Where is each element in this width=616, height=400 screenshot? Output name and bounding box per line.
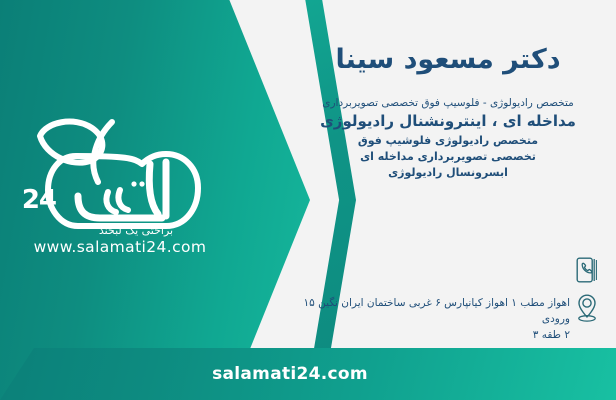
phone-row[interactable] [298, 252, 604, 288]
specialty-line-4: تخصصی تصویربرداری مداخله ای [298, 149, 598, 165]
phone-book-icon[interactable] [570, 252, 604, 288]
specialty-list: متخصص رادیولوژی - فلوسیپ فوق تخصصی تصویر… [298, 96, 598, 181]
address-line-2: ۲ طقه ۳ [302, 328, 570, 344]
contact-block: اهواز مطب ۱ اهواز کیانپارس ۶ غربی ساختما… [298, 252, 604, 347]
address-line-1: اهواز مطب ۱ اهواز کیانپارس ۶ غربی ساختما… [302, 296, 570, 328]
svg-text:24: 24 [22, 185, 56, 215]
specialty-line-2: مداخله ای ، اینترونشنال رادیولوژی [298, 111, 598, 133]
footer-bar: salamati24.com [0, 348, 616, 400]
brand-logo: 24 براحتی یک لبخند www.salamati24.com [16, 104, 224, 264]
doctor-name: دکتر مسعود سینا [298, 44, 598, 76]
salamati24-logo-mark: 24 براحتی یک لبخند [16, 104, 224, 240]
logo-badge-24: 24 [22, 185, 56, 215]
phone-value [298, 252, 570, 276]
location-pin-icon[interactable] [570, 290, 604, 326]
address-row[interactable]: اهواز مطب ۱ اهواز کیانپارس ۶ غربی ساختما… [298, 290, 604, 343]
logo-website-url: www.salamati24.com [16, 238, 224, 256]
specialty-line-5: ابسرونسال رادیولوژی [298, 165, 598, 181]
address-text: اهواز مطب ۱ اهواز کیانپارس ۶ غربی ساختما… [298, 290, 570, 343]
specialty-line-3: متخصص رادیولوژی فلوشیپ فوق [298, 133, 598, 149]
logo-tagline-text: براحتی یک لبخند [99, 224, 173, 237]
specialty-line-1: متخصص رادیولوژی - فلوسیپ فوق تخصصی تصویر… [298, 96, 598, 111]
footer-website[interactable]: salamati24.com [212, 364, 368, 384]
business-card: 24 براحتی یک لبخند www.salamati24.com دک… [0, 0, 616, 400]
